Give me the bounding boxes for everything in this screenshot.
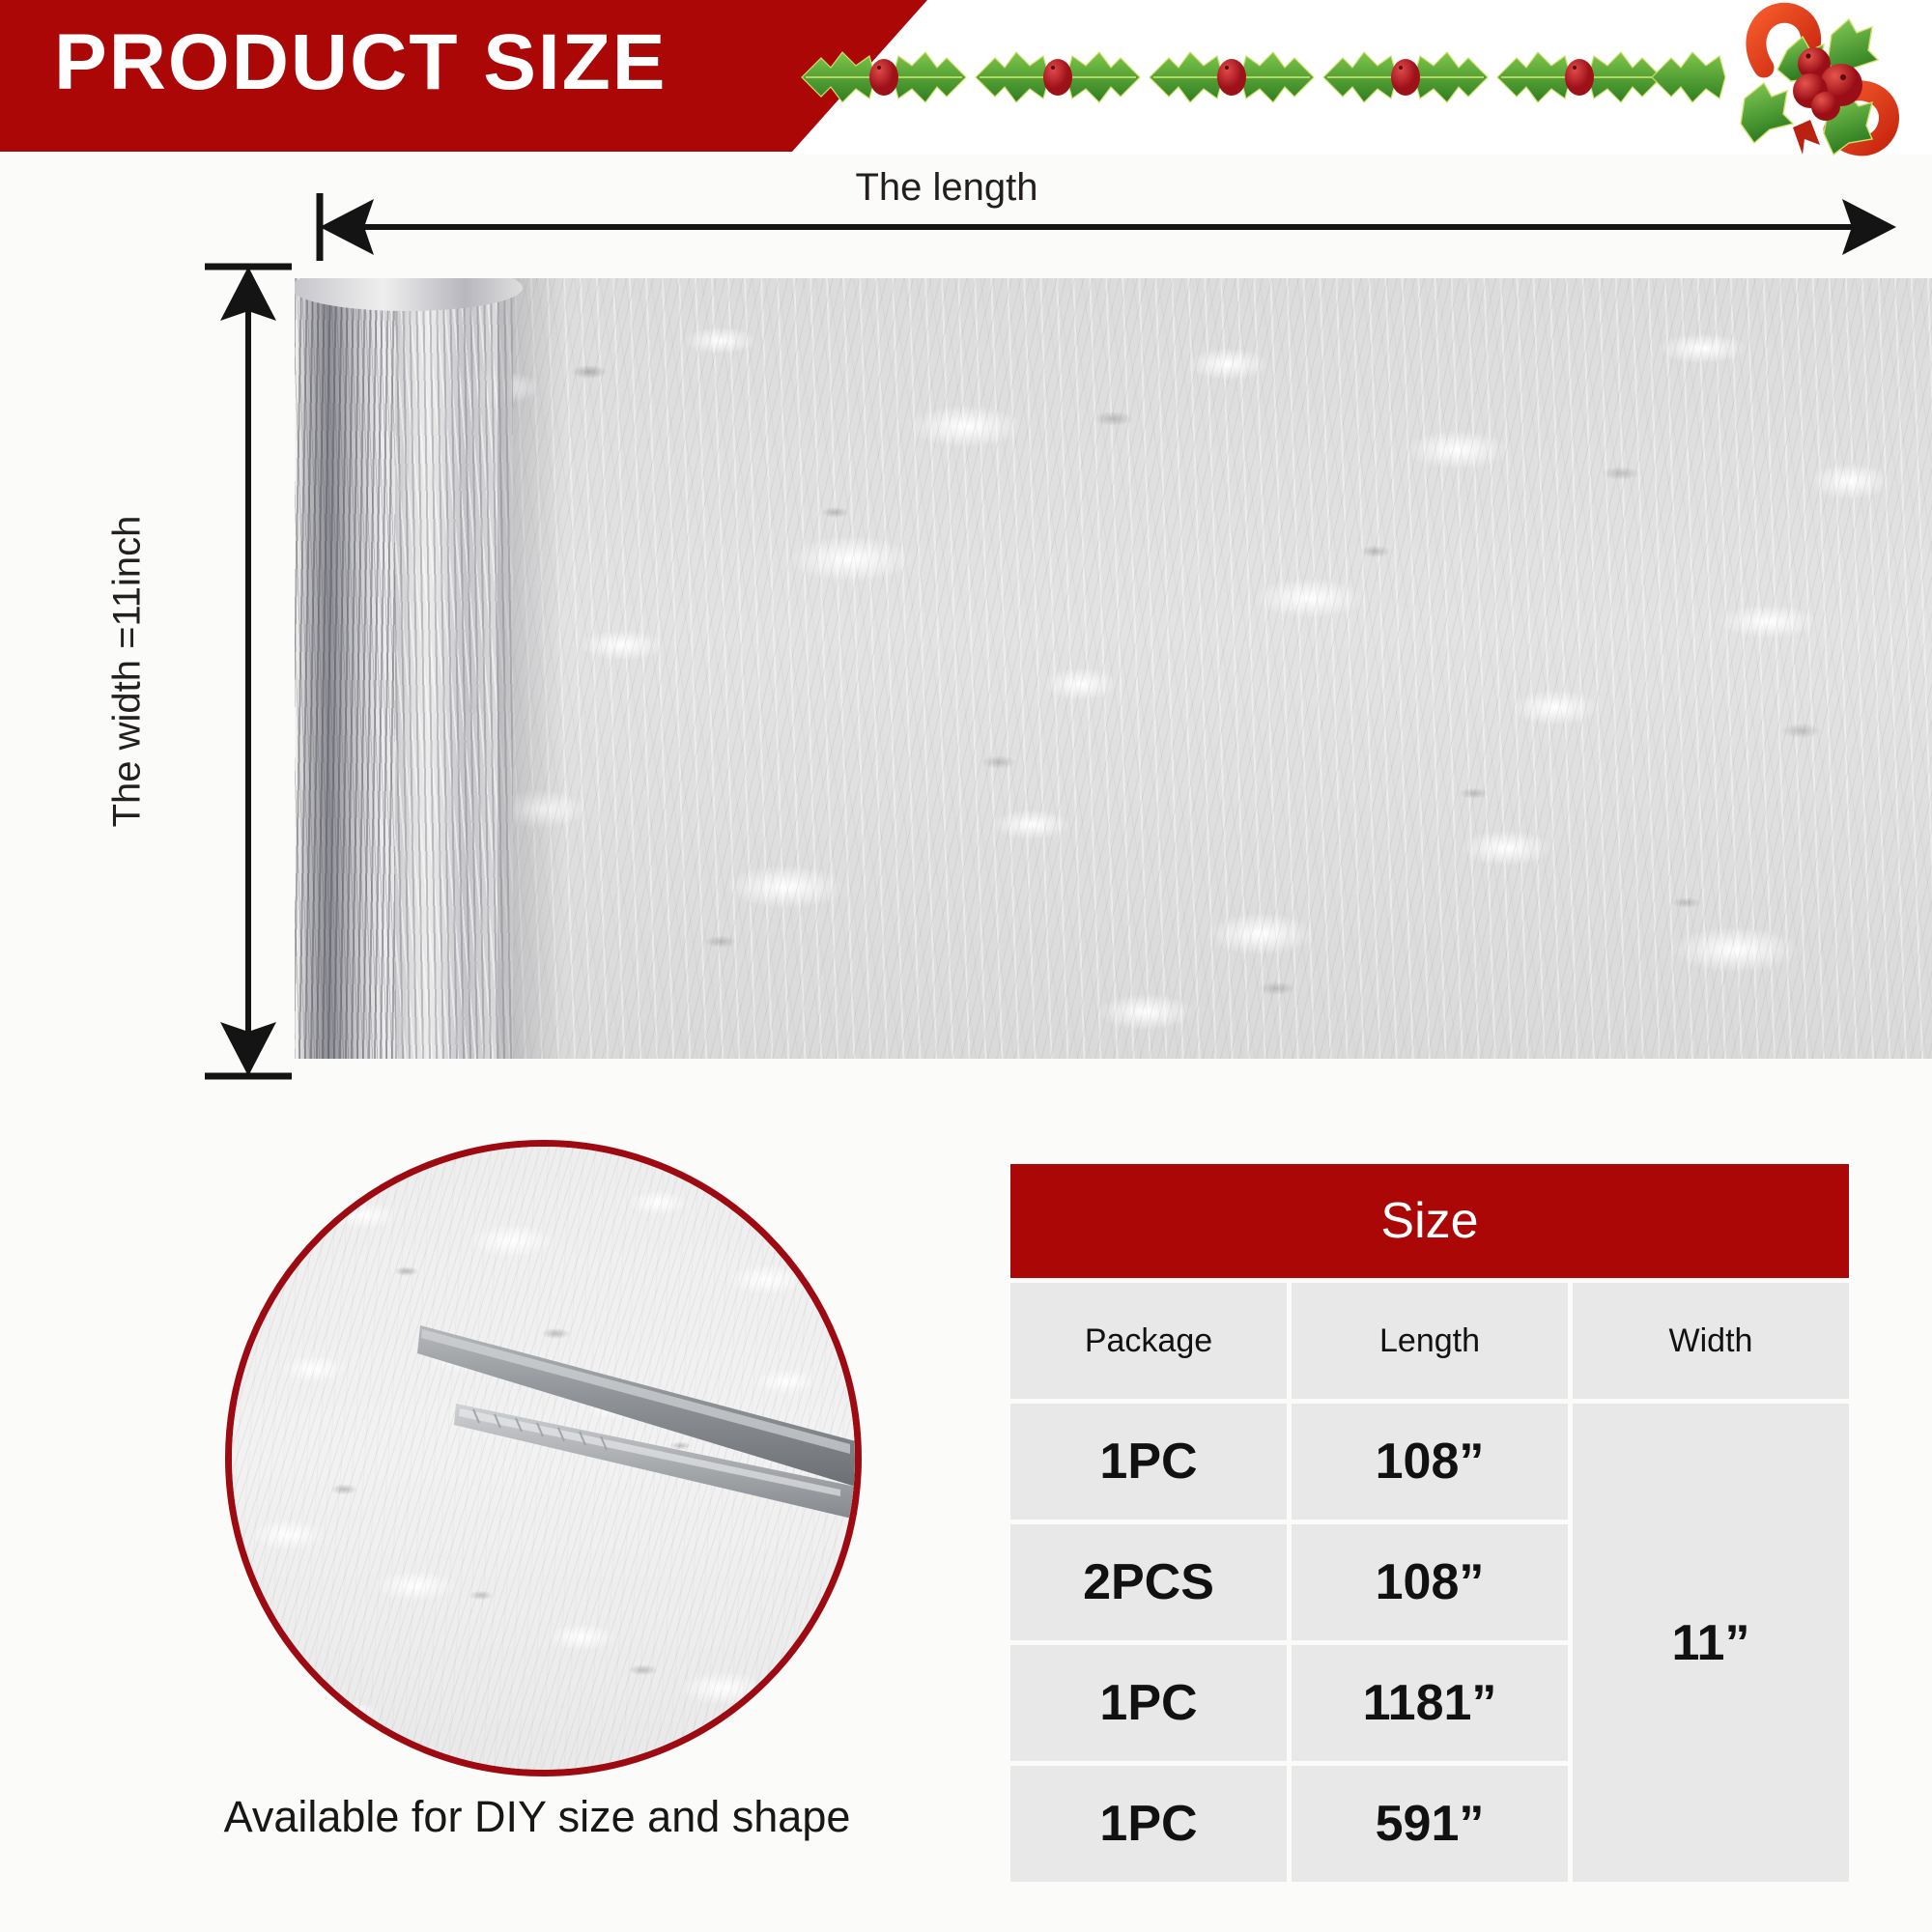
table-row: 1PC	[1010, 1766, 1287, 1882]
table-row: 1PC	[1010, 1404, 1287, 1520]
holly-bow-icon	[1689, 0, 1930, 169]
holly-sprig-icon	[792, 33, 976, 122]
holly-sprig-icon	[1140, 33, 1323, 122]
table-row: 1181”	[1292, 1645, 1568, 1761]
column-header-package: Package	[1010, 1283, 1287, 1399]
table-row: 1PC	[1010, 1645, 1287, 1761]
silver-foil-fabric-roll-photo	[295, 278, 1932, 1059]
table-row: 108”	[1292, 1524, 1568, 1640]
header-band: PRODUCT SIZE	[0, 0, 1932, 155]
fabric-roll-shadow	[497, 278, 565, 1059]
fabric-roll-edge	[295, 278, 409, 1059]
holly-sprig-icon	[966, 33, 1150, 122]
width-dimension-arrow	[184, 261, 299, 1082]
width-merged-cell: 11”	[1573, 1404, 1849, 1882]
size-table-header: Size	[1010, 1164, 1849, 1278]
product-size-infographic: PRODUCT SIZE	[0, 0, 1932, 1932]
page-title: PRODUCT SIZE	[54, 17, 667, 108]
table-row: 591”	[1292, 1766, 1568, 1882]
scissors-icon	[232, 1147, 855, 1770]
column-header-width: Width	[1573, 1283, 1849, 1399]
width-dimension-label: The width =11inch	[106, 516, 150, 828]
size-table-grid: Package Length Width 1PC 108” 11” 2PCS 1…	[1010, 1283, 1849, 1882]
diy-cut-detail-photo	[225, 1140, 862, 1776]
fabric-roll-edge-secondary	[395, 278, 513, 1059]
size-table: Size Package Length Width 1PC 108” 11” 2…	[1010, 1164, 1849, 1882]
detail-caption: Available for DIY size and shape	[224, 1792, 851, 1842]
column-header-length: Length	[1292, 1283, 1568, 1399]
holly-sprig-icon	[1314, 33, 1497, 122]
table-row: 108”	[1292, 1404, 1568, 1520]
length-dimension-arrow	[314, 189, 1898, 286]
table-row: 2PCS	[1010, 1524, 1287, 1640]
